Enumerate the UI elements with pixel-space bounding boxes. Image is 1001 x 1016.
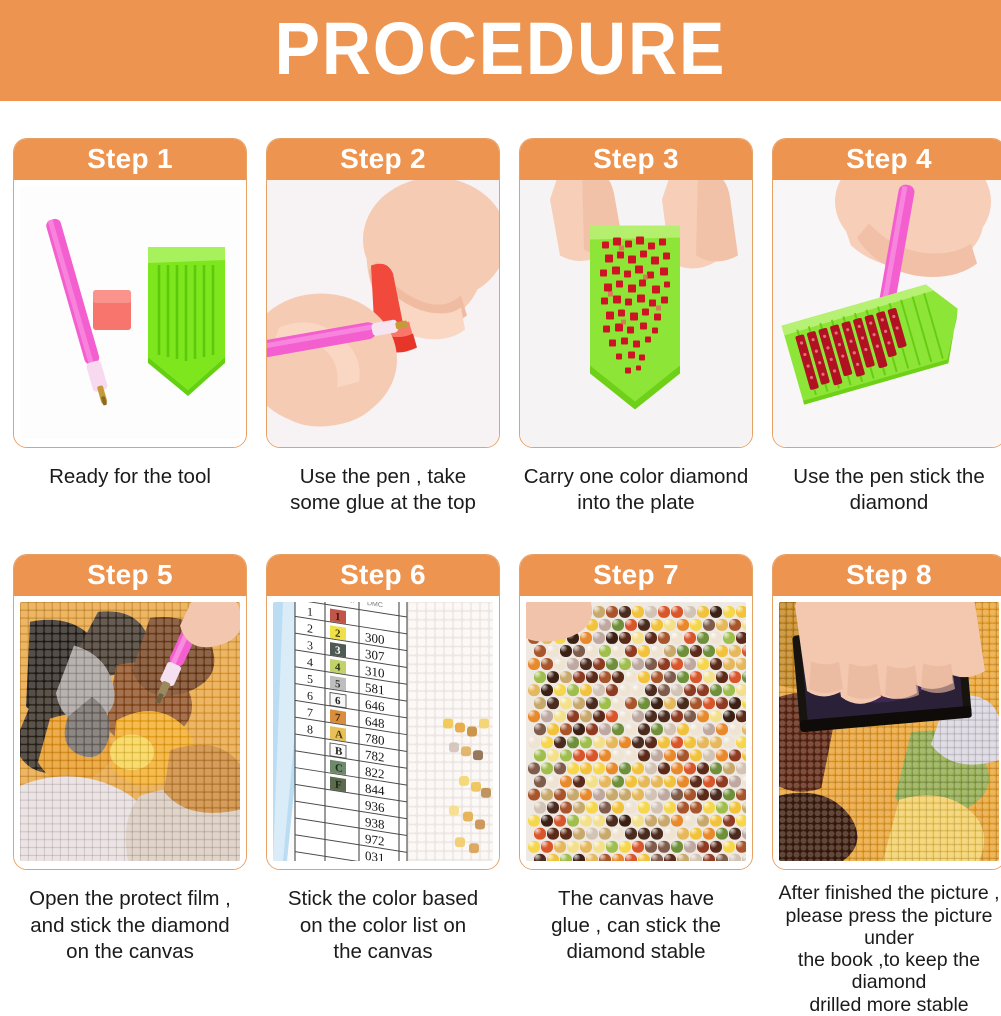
- svg-text:7: 7: [307, 706, 313, 721]
- step-cell-1: Step 1: [13, 138, 247, 516]
- svg-text:C: C: [335, 762, 343, 775]
- svg-text:648: 648: [365, 714, 384, 732]
- svg-text:581: 581: [365, 680, 384, 698]
- svg-text:780: 780: [365, 731, 384, 749]
- step-image-5: [14, 596, 246, 869]
- step-card-5[interactable]: Step 5: [13, 554, 247, 870]
- svg-text:F: F: [335, 779, 342, 792]
- svg-text:2: 2: [335, 628, 341, 641]
- step-image-3: [520, 180, 752, 447]
- page-title: PROCEDURE: [275, 12, 727, 90]
- pen-picking-diamond-from-tray-photo: [773, 180, 1001, 447]
- svg-text:844: 844: [365, 781, 385, 799]
- svg-text:3: 3: [335, 645, 341, 658]
- step-header-2: Step 2: [267, 139, 499, 180]
- step-card-2[interactable]: Step 2: [266, 138, 500, 448]
- step-card-1[interactable]: Step 1: [13, 138, 247, 448]
- svg-text:646: 646: [365, 697, 385, 715]
- step-card-7[interactable]: Step 7: [519, 554, 753, 870]
- svg-text:8: 8: [307, 722, 313, 737]
- step-header-1: Step 1: [14, 139, 246, 180]
- svg-text:938: 938: [365, 815, 384, 833]
- steps-row-bottom: Step 5: [0, 554, 1001, 1015]
- step-cell-6: Step 6: [266, 554, 500, 1015]
- svg-text:2: 2: [307, 622, 313, 637]
- svg-text:1: 1: [307, 605, 313, 620]
- tools-pen-glue-tray-photo: [20, 186, 240, 439]
- step-cell-7: Step 7: [519, 554, 753, 1015]
- svg-text:6: 6: [307, 689, 313, 704]
- step-image-8: [773, 596, 1001, 869]
- svg-text:A: A: [335, 729, 343, 742]
- step-header-3: Step 3: [520, 139, 752, 180]
- svg-text:936: 936: [365, 798, 385, 816]
- step-cell-2: Step 2: [266, 138, 500, 516]
- svg-text:3: 3: [307, 638, 313, 653]
- step-header-5: Step 5: [14, 555, 246, 596]
- svg-text:310: 310: [365, 663, 384, 681]
- step-caption-6: Stick the color based on the color list …: [264, 886, 502, 965]
- svg-text:031: 031: [365, 848, 384, 861]
- step-cell-3: Step 3: [519, 138, 753, 516]
- color-code-chart-photo: Serial Symbol DMC 123 456 78: [273, 602, 493, 861]
- svg-text:782: 782: [365, 747, 384, 765]
- pen-picking-glue-photo: [267, 180, 499, 447]
- step-image-6: Serial Symbol DMC 123 456 78: [267, 596, 499, 869]
- step-caption-5: Open the protect film , and stick the di…: [11, 886, 249, 965]
- step-caption-8: After finished the picture , please pres…: [766, 882, 1001, 1015]
- round-diamonds-closeup-photo: [526, 602, 746, 861]
- step-image-4: [773, 180, 1001, 447]
- step-caption-7: The canvas have glue , can stick the dia…: [517, 886, 755, 965]
- pressing-picture-with-book-photo: [779, 602, 999, 861]
- step-caption-4: Use the pen stick the diamond: [770, 464, 1001, 516]
- svg-text:307: 307: [365, 647, 385, 665]
- step-caption-3: Carry one color diamond into the plate: [517, 464, 755, 516]
- step-header-7: Step 7: [520, 555, 752, 596]
- step-card-8[interactable]: Step 8: [772, 554, 1001, 870]
- svg-text:972: 972: [365, 831, 384, 849]
- steps-grid: Step 1: [0, 138, 1001, 1016]
- step-cell-8: Step 8: [772, 554, 1001, 1015]
- sticking-diamond-on-canvas-photo: [20, 602, 240, 861]
- step-card-3[interactable]: Step 3: [519, 138, 753, 448]
- svg-text:B: B: [335, 746, 343, 759]
- step-image-7: [520, 596, 752, 869]
- step-caption-2: Use the pen , take some glue at the top: [264, 464, 502, 516]
- svg-text:4: 4: [335, 662, 341, 675]
- step-card-4[interactable]: Step 4: [772, 138, 1001, 448]
- svg-text:822: 822: [365, 764, 384, 782]
- pouring-diamonds-into-tray-photo: [520, 180, 752, 447]
- step-caption-1: Ready for the tool: [11, 464, 249, 490]
- svg-text:5: 5: [335, 678, 341, 691]
- svg-text:6: 6: [335, 695, 341, 708]
- steps-row-top: Step 1: [0, 138, 1001, 516]
- step-header-8: Step 8: [773, 555, 1001, 596]
- svg-text:300: 300: [365, 630, 384, 648]
- step-image-2: [267, 180, 499, 447]
- svg-text:4: 4: [307, 655, 313, 670]
- svg-text:1: 1: [335, 611, 340, 624]
- step-cell-5: Step 5: [13, 554, 247, 1015]
- svg-text:7: 7: [335, 712, 341, 725]
- step-card-6[interactable]: Step 6: [266, 554, 500, 870]
- page-header-banner: PROCEDURE: [0, 0, 1001, 101]
- step-image-1: [14, 180, 246, 447]
- step-cell-4: Step 4: [772, 138, 1001, 516]
- svg-text:5: 5: [307, 672, 313, 687]
- step-header-6: Step 6: [267, 555, 499, 596]
- step-header-4: Step 4: [773, 139, 1001, 180]
